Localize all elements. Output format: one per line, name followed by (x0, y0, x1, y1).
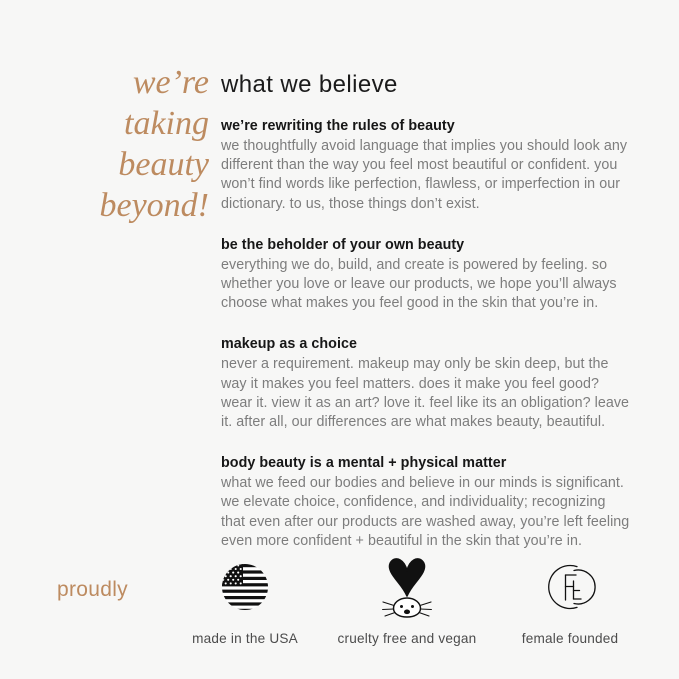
bunny-heart-ears-icon (322, 556, 492, 618)
belief-body: we thoughtfully avoid language that impl… (221, 137, 633, 214)
belief-block-rewriting-rules: we’re rewriting the rules of beauty we t… (221, 117, 633, 214)
brand-values-page: we’re taking beauty beyond! what we beli… (0, 0, 679, 679)
proudly-label: proudly (57, 577, 128, 603)
headline-line-2: taking (46, 103, 209, 144)
badge-caption: female founded (485, 630, 655, 647)
belief-heading: makeup as a choice (221, 335, 633, 354)
headline-line-3: beauty (46, 144, 209, 185)
belief-block-beholder: be the beholder of your own beauty every… (221, 236, 633, 314)
belief-heading: we’re rewriting the rules of beauty (221, 117, 633, 136)
badge-female-founded: female founded (485, 556, 655, 647)
badge-caption: made in the USA (160, 630, 330, 647)
badge-made-in-usa: made in the USA (160, 556, 330, 647)
belief-block-makeup-choice: makeup as a choice never a requirement. … (221, 335, 633, 432)
believe-section: what we believe we’re rewriting the rule… (221, 70, 633, 551)
female-founded-monogram-icon (485, 556, 655, 618)
belief-block-body-beauty: body beauty is a mental + physical matte… (221, 454, 633, 551)
belief-heading: body beauty is a mental + physical matte… (221, 454, 633, 473)
belief-body: never a requirement. makeup may only be … (221, 355, 633, 432)
badge-cruelty-free: cruelty free and vegan (322, 556, 492, 647)
brand-headline: we’re taking beauty beyond! (46, 62, 209, 226)
badge-caption: cruelty free and vegan (322, 630, 492, 647)
badge-row: proudly (0, 556, 679, 661)
belief-heading: be the beholder of your own beauty (221, 236, 633, 255)
page-title: what we believe (221, 70, 633, 100)
headline-line-1: we’re (46, 62, 209, 103)
belief-body: everything we do, build, and create is p… (221, 256, 633, 314)
headline-line-4: beyond! (46, 185, 209, 226)
usa-flag-circle-icon (160, 556, 330, 618)
belief-body: what we feed our bodies and believe in o… (221, 474, 633, 551)
